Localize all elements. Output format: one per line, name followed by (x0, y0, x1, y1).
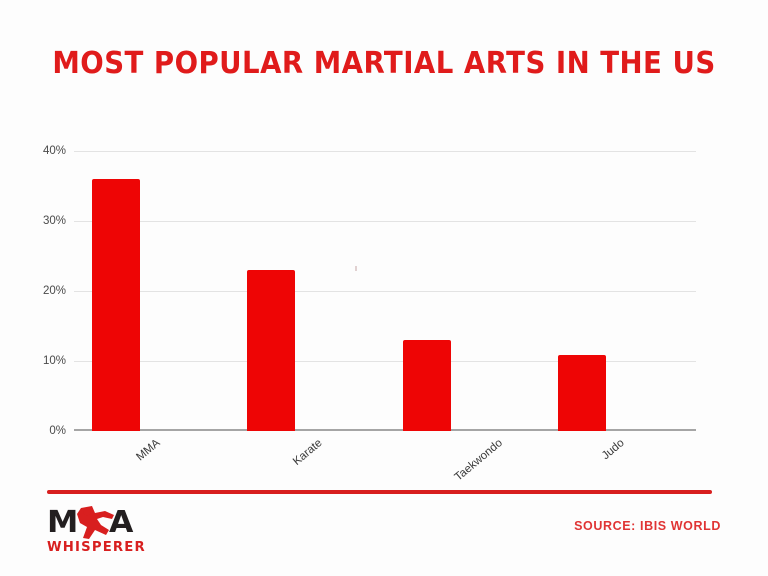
x-axis-label-mma: MMA (134, 437, 162, 463)
source-credit: SOURCE: IBIS WORLD (574, 519, 721, 533)
gridline (74, 291, 696, 292)
infographic-canvas: MOST POPULAR MARTIAL ARTS IN THE US 0%10… (0, 0, 768, 576)
brand-logo: M A WHISPERER (47, 508, 151, 560)
gridline (74, 221, 696, 222)
bar-judo[interactable] (558, 355, 606, 431)
logo-wordmark: WHISPERER (47, 539, 146, 555)
y-axis-tick-label: 40% (22, 145, 66, 157)
x-axis-label-taekwondo: Taekwondo (452, 437, 504, 484)
logo-letter-m: M (47, 508, 78, 538)
gridline (74, 151, 696, 152)
bar-chart: 0%10%20%30%40% MMAKarateTaekwondoJudo (0, 0, 768, 500)
y-axis-tick-label: 30% (22, 215, 66, 227)
footer-divider (47, 490, 712, 494)
bar-karate[interactable] (247, 270, 295, 431)
logo-mark: M A (47, 508, 151, 540)
x-axis-label-judo: Judo (600, 437, 627, 462)
x-axis-label-karate: Karate (291, 437, 325, 468)
plot-area (74, 151, 696, 431)
bar-taekwondo[interactable] (403, 340, 451, 431)
y-axis-tick-label: 0% (22, 425, 66, 437)
martial-artist-silhouette-icon (75, 506, 115, 540)
stray-mark (355, 266, 357, 271)
y-axis-tick-label: 20% (22, 285, 66, 297)
y-axis-tick-label: 10% (22, 355, 66, 367)
bar-mma[interactable] (92, 179, 140, 431)
